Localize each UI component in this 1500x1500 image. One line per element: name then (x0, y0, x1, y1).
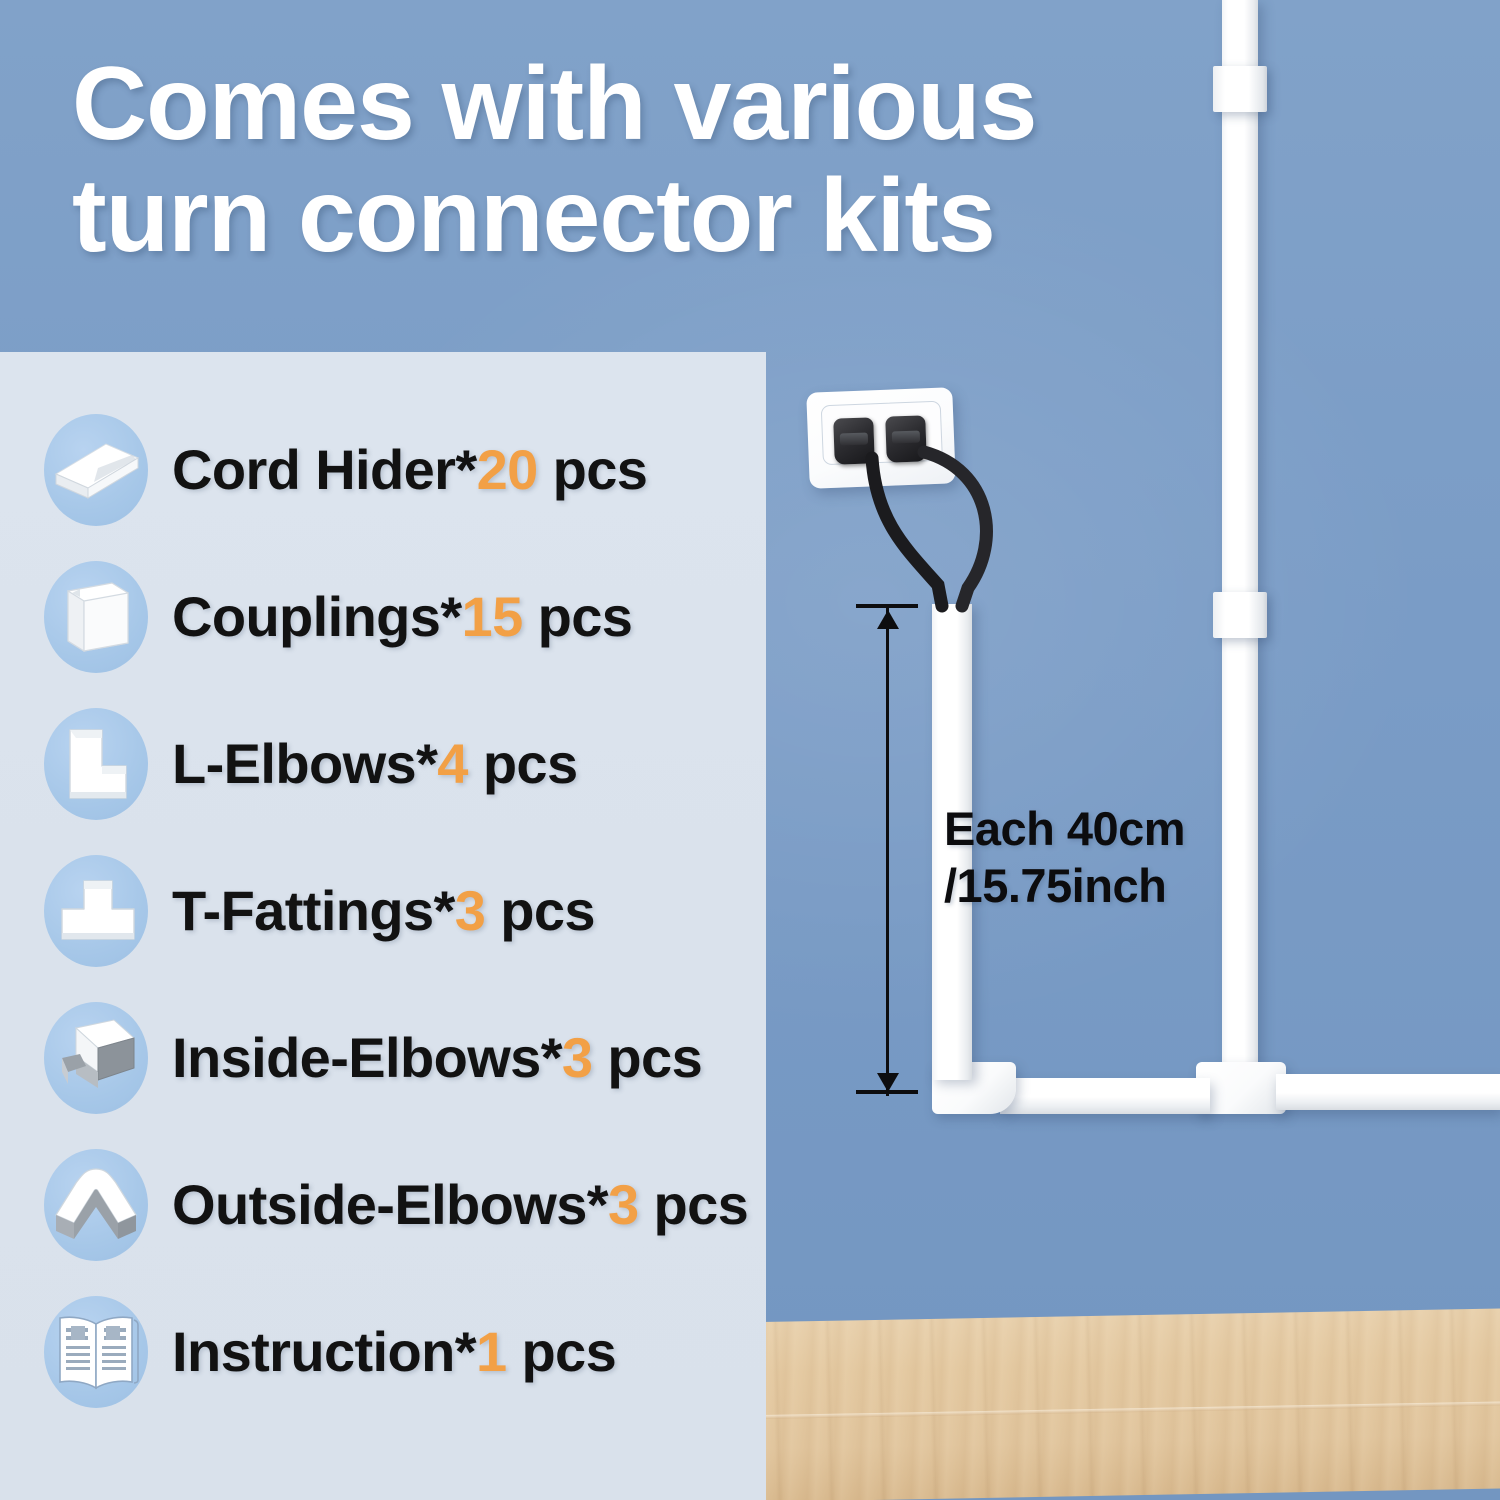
spec-item-unit: pcs (607, 1026, 702, 1089)
spec-separator: * (416, 732, 437, 795)
cord-hider-icon (44, 414, 148, 526)
spec-text: Instruction*1 pcs (172, 1319, 616, 1384)
product-infographic: Each 40cm /15.75inch Comes with various … (0, 0, 1500, 1500)
spec-list: Cord Hider*20 pcs Couplings*15 pcs L-Elb… (0, 352, 766, 1425)
spec-item-unit: pcs (500, 879, 595, 942)
coupling-icon (44, 561, 148, 673)
l-elbow-icon (44, 708, 148, 820)
spec-panel: Cord Hider*20 pcs Couplings*15 pcs L-Elb… (0, 352, 766, 1500)
spec-item-unit: pcs (653, 1173, 748, 1236)
spec-item-quantity: 4 (437, 732, 468, 795)
instruction-book-icon (44, 1296, 148, 1408)
t-fitting-icon (44, 855, 148, 967)
spec-text: Inside-Elbows*3 pcs (172, 1025, 702, 1090)
outside-elbow-icon (44, 1149, 148, 1261)
spec-item-quantity: 3 (455, 879, 486, 942)
spec-item-quantity: 1 (476, 1320, 507, 1383)
spec-separator: * (434, 879, 455, 942)
spec-text: L-Elbows*4 pcs (172, 731, 578, 796)
spec-separator: * (587, 1173, 608, 1236)
spec-separator: * (440, 585, 461, 648)
spec-text: Couplings*15 pcs (172, 584, 632, 649)
spec-text: T-Fattings*3 pcs (172, 878, 595, 943)
spec-text: Outside-Elbows*3 pcs (172, 1172, 748, 1237)
dimension-arrow-down-icon (877, 1073, 899, 1092)
spec-item-name: Inside-Elbows (172, 1026, 541, 1089)
spec-item-quantity: 15 (462, 585, 523, 648)
spec-item-quantity: 3 (562, 1026, 593, 1089)
page-title-line1: Comes with various (72, 48, 1212, 160)
page-title: Comes with various turn connector kits (72, 48, 1212, 273)
spec-row: T-Fattings*3 pcs (0, 837, 766, 984)
spec-row: Inside-Elbows*3 pcs (0, 984, 766, 1131)
spec-row: Outside-Elbows*3 pcs (0, 1131, 766, 1278)
spec-item-name: T-Fattings (172, 879, 434, 942)
spec-row: Cord Hider*20 pcs (0, 396, 766, 543)
dimension-label-line1: Each 40cm (944, 800, 1185, 857)
spec-item-name: Cord Hider (172, 438, 455, 501)
spec-item-name: L-Elbows (172, 732, 416, 795)
dimension-label-line2: /15.75inch (944, 857, 1185, 914)
dimension-arrow-up-icon (877, 610, 899, 629)
spec-item-unit: pcs (521, 1320, 616, 1383)
spec-item-unit: pcs (553, 438, 648, 501)
dimension-line (886, 606, 889, 1096)
spec-item-unit: pcs (483, 732, 578, 795)
spec-text: Cord Hider*20 pcs (172, 437, 647, 502)
spec-item-name: Instruction (172, 1320, 455, 1383)
spec-row: L-Elbows*4 pcs (0, 690, 766, 837)
spec-item-quantity: 20 (477, 438, 538, 501)
spec-row: Couplings*15 pcs (0, 543, 766, 690)
spec-item-unit: pcs (538, 585, 633, 648)
dimension-label: Each 40cm /15.75inch (944, 800, 1185, 915)
spec-item-name: Couplings (172, 585, 440, 648)
spec-row: Instruction*1 pcs (0, 1278, 766, 1425)
spec-item-name: Outside-Elbows (172, 1173, 587, 1236)
spec-separator: * (541, 1026, 562, 1089)
page-title-line2: turn connector kits (72, 160, 1212, 272)
spec-separator: * (455, 438, 476, 501)
spec-separator: * (455, 1320, 476, 1383)
inside-elbow-icon (44, 1002, 148, 1114)
spec-item-quantity: 3 (608, 1173, 639, 1236)
